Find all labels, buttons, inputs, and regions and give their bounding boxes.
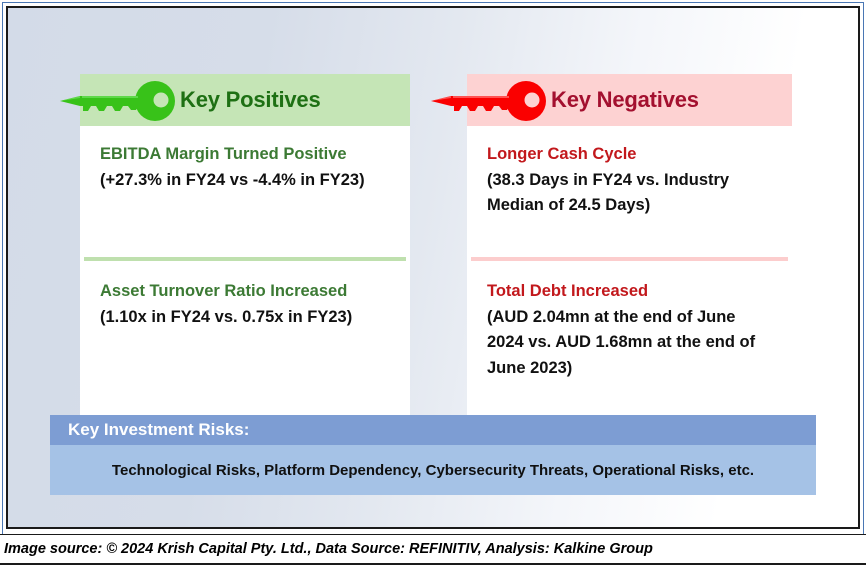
positive-entry-1-title: EBITDA Margin Turned Positive	[100, 142, 390, 168]
key-investment-risks-heading: Key Investment Risks:	[50, 415, 816, 445]
negative-entry-1-body: (38.3 Days in FY24 vs. Industry Median o…	[487, 168, 772, 219]
negative-entry-1-title: Longer Cash Cycle	[487, 142, 772, 168]
positive-entry-2: Asset Turnover Ratio Increased (1.10x in…	[80, 261, 410, 424]
negative-entry-2-body: (AUD 2.04mn at the end of June 2024 vs. …	[487, 305, 772, 382]
key-investment-risks-body: Technological Risks, Platform Dependency…	[50, 445, 816, 495]
key-positives-header: Key Positives	[80, 74, 410, 126]
slide-canvas: Key Positives EBITDA Margin Turned Posit…	[6, 6, 860, 529]
key-investment-risks-banner: Key Investment Risks: Technological Risk…	[50, 415, 816, 495]
negative-entry-1: Longer Cash Cycle (38.3 Days in FY24 vs.…	[467, 126, 792, 257]
key-negatives-header: Key Negatives	[467, 74, 792, 126]
key-positives-title: Key Positives	[180, 87, 320, 113]
negative-entry-2: Total Debt Increased (AUD 2.04mn at the …	[467, 261, 792, 424]
key-positives-column: Key Positives EBITDA Margin Turned Posit…	[80, 74, 410, 420]
key-negatives-title: Key Negatives	[551, 87, 699, 113]
key-icon	[58, 80, 178, 122]
positive-entry-1-body: (+27.3% in FY24 vs -4.4% in FY23)	[100, 168, 390, 194]
infographic-slide: Key Positives EBITDA Margin Turned Posit…	[0, 0, 866, 565]
negative-entry-2-title: Total Debt Increased	[487, 279, 772, 305]
key-negatives-column: Key Negatives Longer Cash Cycle (38.3 Da…	[467, 74, 792, 420]
positive-entry-2-title: Asset Turnover Ratio Increased	[100, 279, 390, 305]
key-icon	[429, 80, 549, 122]
source-footer: Image source: © 2024 Krish Capital Pty. …	[0, 534, 866, 565]
key-negatives-card: Longer Cash Cycle (38.3 Days in FY24 vs.…	[467, 126, 792, 420]
source-footer-text: Image source: © 2024 Krish Capital Pty. …	[0, 541, 653, 557]
key-positives-card: EBITDA Margin Turned Positive (+27.3% in…	[80, 126, 410, 420]
positive-entry-2-body: (1.10x in FY24 vs. 0.75x in FY23)	[100, 305, 390, 331]
positive-entry-1: EBITDA Margin Turned Positive (+27.3% in…	[80, 126, 410, 257]
